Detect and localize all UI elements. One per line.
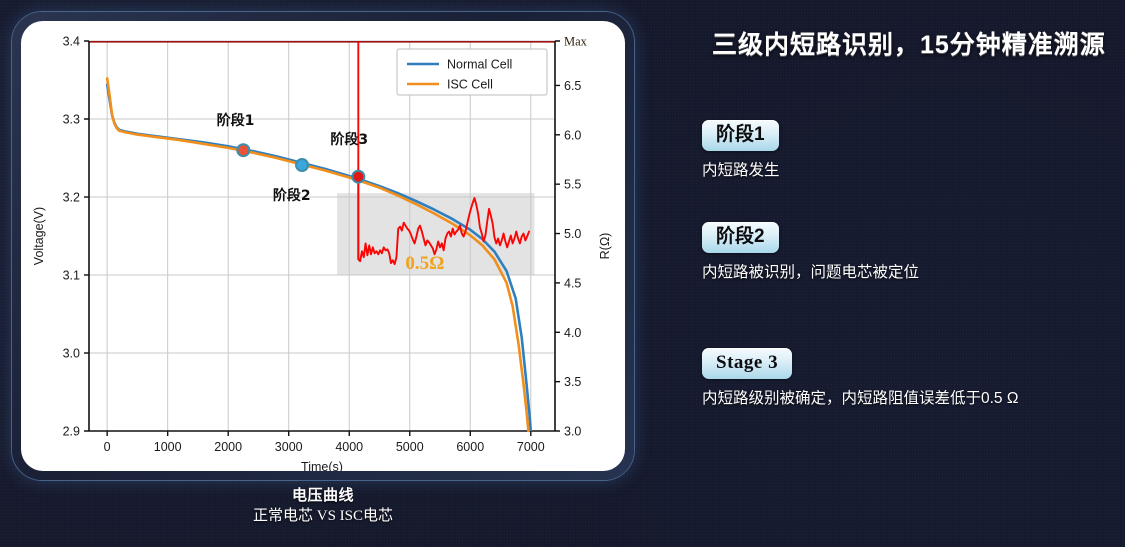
y2-tick-label: 5.5: [564, 178, 581, 192]
y-tick-label: 3.2: [63, 191, 80, 205]
x-axis-label: Time(s): [301, 460, 343, 471]
y2-tick-label: 4.5: [564, 276, 581, 290]
y2-tick-label: 6.5: [564, 79, 581, 93]
stage-desc-2: 内短路被识别，问题电芯被定位: [702, 262, 1122, 284]
info-panel: 三级内短路识别，15分钟精准溯源 阶段1 内短路发生 阶段2 内短路被识别，问题…: [690, 0, 1125, 547]
y2-max-label: Max: [564, 35, 588, 49]
y-tick-label: 3.0: [63, 347, 80, 361]
caption-line-1: 电压曲线: [12, 486, 634, 505]
stage-badge-1: 阶段1: [702, 120, 779, 151]
y-axis-label: Voltage(V): [32, 207, 46, 265]
y2-tick-label: 3.5: [564, 375, 581, 389]
stage-annotation-3: 阶段3: [330, 131, 368, 148]
annotation-resistance-value: 0.5Ω: [405, 253, 444, 274]
y2-tick-label: 6.0: [564, 128, 581, 142]
chart-card: 010002000300040005000600070002.93.03.13.…: [21, 21, 625, 471]
y-tick-label: 3.1: [63, 269, 80, 283]
x-tick-label: 5000: [396, 440, 424, 454]
legend-label-2: ISC Cell: [447, 78, 493, 92]
y-tick-label: 3.3: [63, 113, 80, 127]
chart-caption: 电压曲线 正常电芯 VS ISC电芯: [12, 486, 634, 526]
stage-badge-3: Stage 3: [702, 348, 792, 379]
stage-desc-3: 内短路级别被确定，内短路阻值误差低于0.5 Ω: [702, 388, 1122, 410]
y2-tick-label: 4.0: [564, 326, 581, 340]
x-tick-label: 2000: [214, 440, 242, 454]
chart-svg: 010002000300040005000600070002.93.03.13.…: [21, 21, 625, 471]
stage-marker-3: [352, 171, 364, 183]
voltage-chart: 010002000300040005000600070002.93.03.13.…: [21, 21, 625, 471]
stage-annotation-2: 阶段2: [273, 187, 311, 204]
y2-tick-label: 3.0: [564, 425, 581, 439]
x-tick-label: 7000: [517, 440, 545, 454]
x-tick-label: 3000: [275, 440, 303, 454]
stage-marker-2: [296, 159, 308, 171]
stage-marker-1: [237, 144, 249, 156]
stage-block-3: Stage 3 内短路级别被确定，内短路阻值误差低于0.5 Ω: [702, 348, 1122, 409]
caption-line-2: 正常电芯 VS ISC电芯: [12, 507, 634, 526]
x-tick-label: 1000: [154, 440, 182, 454]
y-tick-label: 2.9: [63, 425, 80, 439]
x-tick-label: 0: [104, 440, 111, 454]
stage-block-1: 阶段1 内短路发生: [702, 120, 1122, 181]
y2-tick-label: 5.0: [564, 227, 581, 241]
x-tick-label: 4000: [335, 440, 363, 454]
x-tick-label: 6000: [456, 440, 484, 454]
stage-block-2: 阶段2 内短路被识别，问题电芯被定位: [702, 222, 1122, 283]
stage-desc-1: 内短路发生: [702, 160, 1122, 182]
y2-axis-label: R(Ω): [598, 233, 612, 260]
stage-annotation-1: 阶段1: [217, 112, 255, 129]
y-tick-label: 3.4: [63, 35, 80, 49]
page-title: 三级内短路识别，15分钟精准溯源: [712, 25, 1122, 61]
stage-badge-2: 阶段2: [702, 222, 779, 253]
legend-label-1: Normal Cell: [447, 58, 512, 72]
